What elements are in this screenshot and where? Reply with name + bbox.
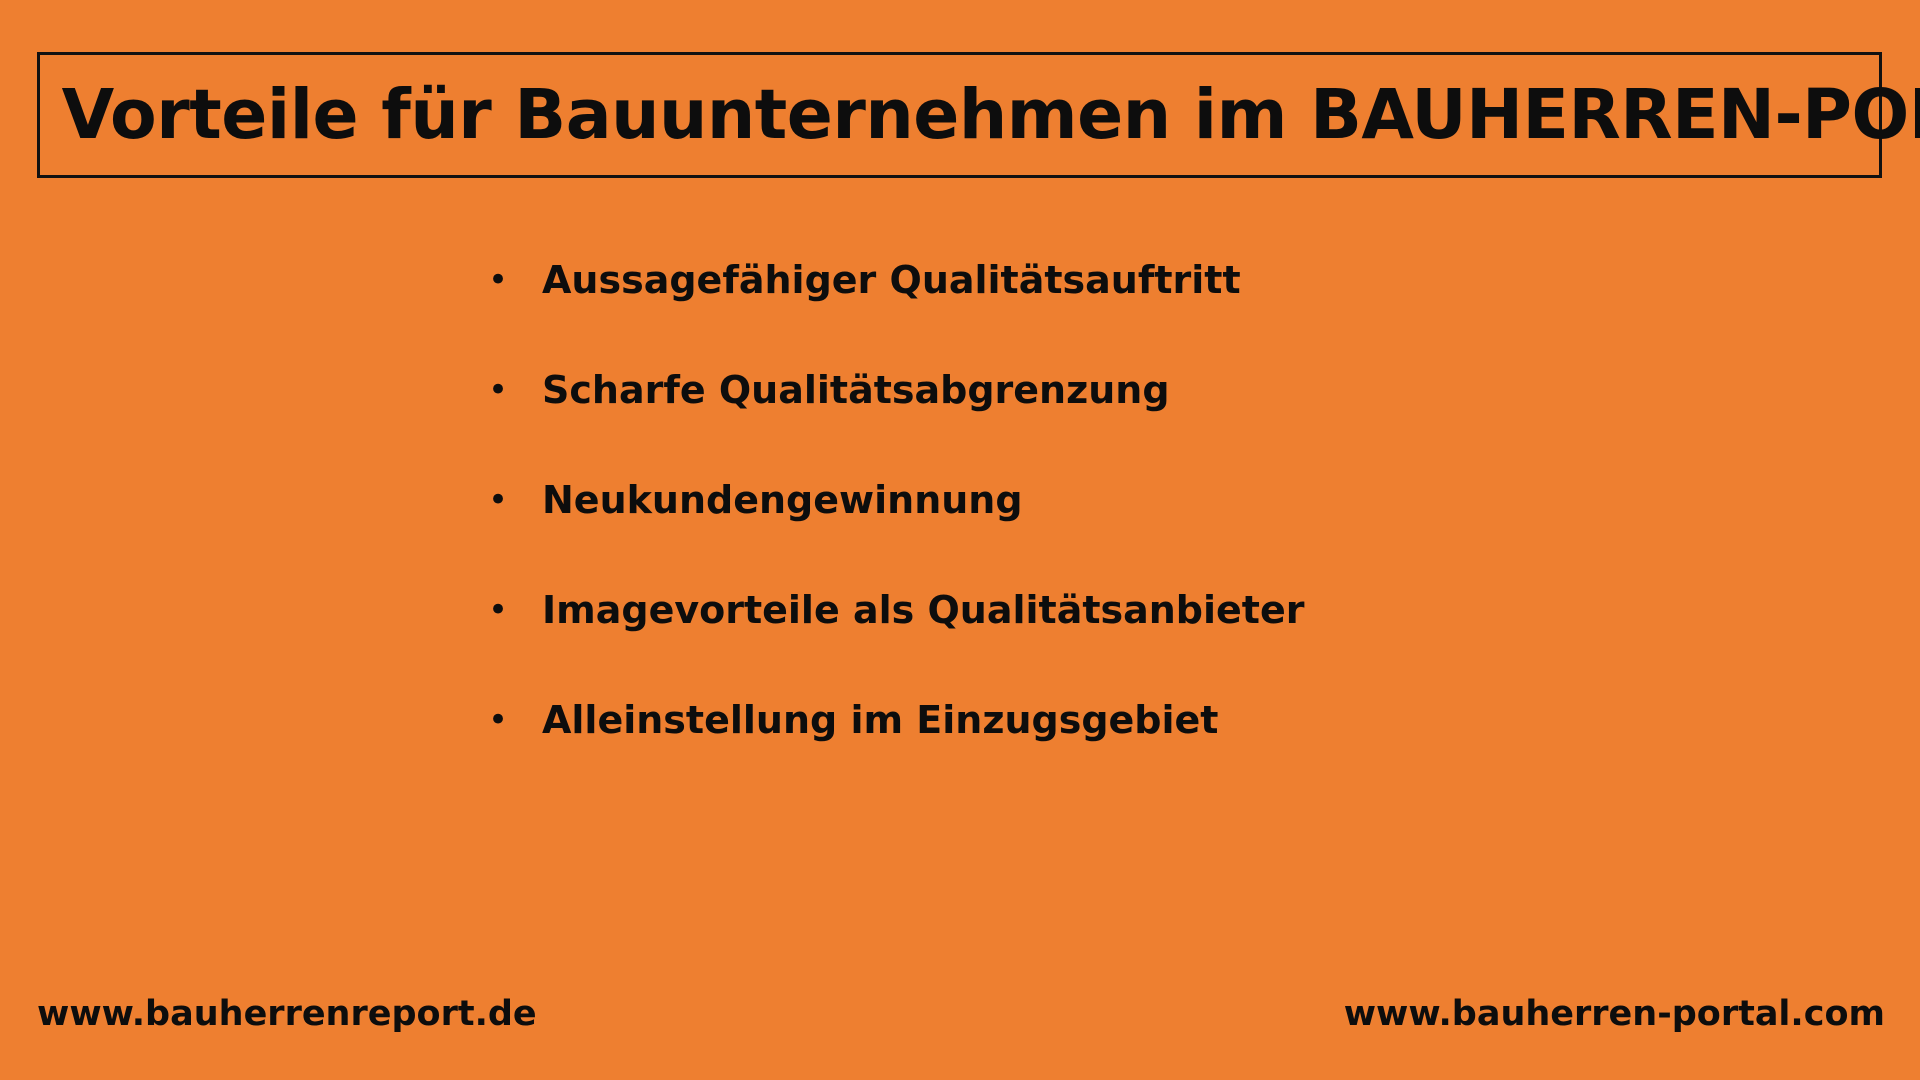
page-title: Vorteile für Bauunternehmen im BAUHERREN…	[40, 81, 1920, 150]
list-item: • Scharfe Qualitätsabgrenzung	[480, 368, 1780, 478]
bullet-dot-icon: •	[480, 258, 542, 302]
bullet-dot-icon: •	[480, 588, 542, 632]
footer: www.bauherrenreport.de www.bauherren-por…	[0, 990, 1920, 1050]
footer-link-bauherrenreport[interactable]: www.bauherrenreport.de	[37, 990, 537, 1038]
list-item: • Aussagefähiger Qualitätsauftritt	[480, 258, 1780, 368]
list-item: • Alleinstellung im Einzugsgebiet	[480, 698, 1780, 808]
title-box: Vorteile für Bauunternehmen im BAUHERREN…	[37, 52, 1882, 178]
list-item-label: Alleinstellung im Einzugsgebiet	[542, 698, 1780, 742]
slide-canvas: Vorteile für Bauunternehmen im BAUHERREN…	[0, 0, 1920, 1080]
list-item-label: Imagevorteile als Qualitätsanbieter	[542, 588, 1780, 632]
list-item: • Neukundengewinnung	[480, 478, 1780, 588]
list-item-label: Scharfe Qualitätsabgrenzung	[542, 368, 1780, 412]
bullet-dot-icon: •	[480, 368, 542, 412]
list-item-label: Aussagefähiger Qualitätsauftritt	[542, 258, 1780, 302]
footer-link-bauherren-portal[interactable]: www.bauherren-portal.com	[1344, 990, 1885, 1038]
bullet-dot-icon: •	[480, 478, 542, 522]
list-item: • Imagevorteile als Qualitätsanbieter	[480, 588, 1780, 698]
benefits-list: • Aussagefähiger Qualitätsauftritt • Sch…	[480, 258, 1780, 808]
list-item-label: Neukundengewinnung	[542, 478, 1780, 522]
bullet-dot-icon: •	[480, 698, 542, 742]
